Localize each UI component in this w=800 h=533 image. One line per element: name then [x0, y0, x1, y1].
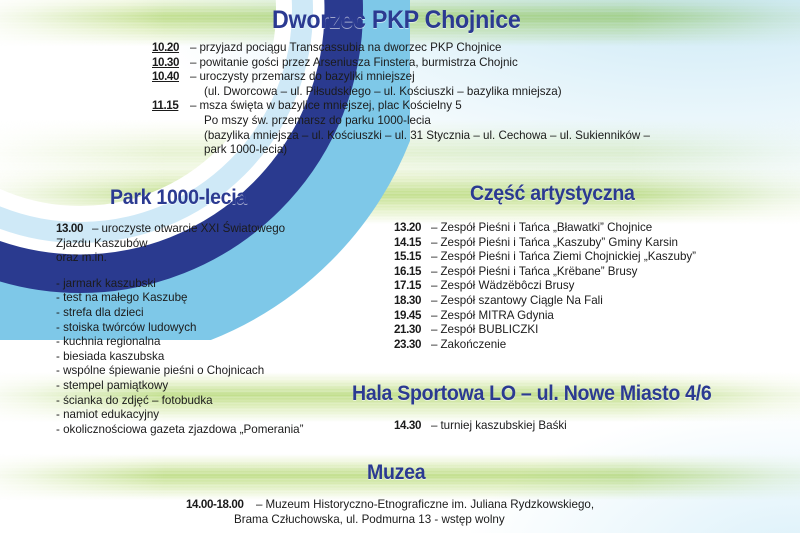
- entry-description: Zakończenie: [440, 338, 506, 353]
- list-item: - stoiska twórców ludowych: [56, 321, 386, 336]
- entry-dash: –: [429, 338, 440, 353]
- entry-time: 13.00: [56, 222, 90, 237]
- entry-description: Zespół MITRA Gdynia: [440, 309, 553, 324]
- schedule-row: 23.30 – Zakończenie: [394, 338, 696, 353]
- entry-description: przyjazd pociągu Transcassubia na dworze…: [199, 41, 501, 56]
- schedule-row: 18.30 – Zespół szantowy Ciągle Na Fali: [394, 294, 696, 309]
- entry-continuation: park 1000-lecia): [204, 143, 650, 158]
- schedule-row: 10.20 – przyjazd pociągu Transcassubia n…: [152, 41, 650, 56]
- entry-time: 10.40: [152, 70, 188, 85]
- entry-time: 21.30: [394, 323, 429, 338]
- entry-dash: –: [429, 309, 440, 324]
- entry-time: 11.15: [152, 99, 188, 114]
- section-heading-hala-sportowa: Hala Sportowa LO – ul. Nowe Miasto 4/6: [352, 382, 711, 406]
- section-heading-park-1000-lecia: Park 1000-lecia: [110, 186, 247, 210]
- schedule-block-park-1000-lecia: 13.00 – uroczyste otwarcie XXI Światoweg…: [56, 222, 386, 437]
- entry-description: Zespół szantowy Ciągle Na Fali: [440, 294, 602, 309]
- schedule-row: 10.40 – uroczysty przemarsz do bazyliki …: [152, 70, 650, 85]
- entry-continuation: (ul. Dworcowa – ul. Piłsudskiego – ul. K…: [204, 85, 650, 100]
- entry-continuation: (bazylika mniejsza – ul. Kościuszki – ul…: [204, 129, 650, 144]
- entry-dash: –: [90, 222, 101, 237]
- list-item: - wspólne śpiewanie pieśni o Chojnicach: [56, 364, 386, 379]
- entry-dash: –: [429, 419, 440, 434]
- entry-time: 23.30: [394, 338, 429, 353]
- entry-time: 19.45: [394, 309, 429, 324]
- entry-dash: –: [188, 56, 199, 71]
- schedule-row: 13.00 – uroczyste otwarcie XXI Światoweg…: [56, 222, 386, 237]
- schedule-row: 14.30 – turniej kaszubskiej Baśki: [394, 419, 567, 434]
- schedule-block-muzea: 14.00-18.00 – Muzeum Historyczno-Etnogra…: [186, 498, 594, 527]
- entry-time: 14.15: [394, 236, 429, 251]
- entry-description: Zespół Pieśni i Tańca Ziemi Chojnickiej …: [440, 250, 696, 265]
- entry-dash: –: [429, 323, 440, 338]
- entry-time: 10.30: [152, 56, 188, 71]
- entry-time: 18.30: [394, 294, 429, 309]
- schedule-block-dworzec-pkp: 10.20 – przyjazd pociągu Transcassubia n…: [152, 41, 650, 158]
- schedule-row: 10.30 – powitanie gości przez Arseniusza…: [152, 56, 650, 71]
- entry-dash: –: [429, 294, 440, 309]
- entry-description: Zespół Wädzëbôczi Brusy: [440, 279, 574, 294]
- entry-time: 14.00-18.00: [186, 498, 254, 513]
- schedule-row: 15.15 – Zespół Pieśni i Tańca Ziemi Choj…: [394, 250, 696, 265]
- section-heading-dworzec-pkp: Dworzec PKP Chojnice: [272, 6, 521, 35]
- entry-continuation: Po mszy św. przemarsz do parku 1000-leci…: [204, 114, 650, 129]
- entry-time: 16.15: [394, 265, 429, 280]
- poster-content: Dworzec PKP Chojnice 10.20 – przyjazd po…: [0, 0, 800, 533]
- entry-dash: –: [429, 265, 440, 280]
- entry-time: 10.20: [152, 41, 188, 56]
- entry-dash: –: [188, 70, 199, 85]
- schedule-row: 19.45 – Zespół MITRA Gdynia: [394, 309, 696, 324]
- list-item: - kuchnia regionalna: [56, 335, 386, 350]
- event-schedule-poster: Dworzec PKP Chojnice 10.20 – przyjazd po…: [0, 0, 800, 533]
- list-item: - stempel pamiątkowy: [56, 379, 386, 394]
- list-item: - okolicznościowa gazeta zjazdowa „Pomer…: [56, 423, 386, 438]
- schedule-row: 14.00-18.00 – Muzeum Historyczno-Etnogra…: [186, 498, 594, 513]
- schedule-block-hala-sportowa: 14.30 – turniej kaszubskiej Baśki: [394, 419, 567, 434]
- entry-continuation: Zjazdu Kaszubów: [56, 237, 386, 252]
- entry-time: 15.15: [394, 250, 429, 265]
- entry-time: 13.20: [394, 221, 429, 236]
- section-heading-muzea: Muzea: [367, 461, 425, 485]
- entry-description: Zespół Pieśni i Tańca „Bławatki” Chojnic…: [440, 221, 652, 236]
- entry-dash: –: [188, 99, 199, 114]
- schedule-row: 21.30 – Zespół BUBLICZKI: [394, 323, 696, 338]
- entry-description: uroczysty przemarsz do bazyliki mniejsze…: [199, 70, 414, 85]
- section-heading-czesc-artystyczna: Część artystyczna: [470, 182, 635, 206]
- entry-description: Zespół BUBLICZKI: [440, 323, 538, 338]
- entry-description: powitanie gości przez Arseniusza Finster…: [199, 56, 517, 71]
- entry-time: 17.15: [394, 279, 429, 294]
- entry-description: msza święta w bazylice mniejszej, plac K…: [199, 99, 461, 114]
- entry-continuation: Brama Człuchowska, ul. Podmurna 13 - wst…: [234, 513, 594, 528]
- entry-description: Zespół Pieśni i Tańca „Kaszuby” Gminy Ka…: [440, 236, 678, 251]
- park-activities-list: - jarmark kaszubski - test na małego Kas…: [56, 277, 386, 438]
- entry-dash: –: [429, 279, 440, 294]
- schedule-row: 13.20 – Zespół Pieśni i Tańca „Bławatki”…: [394, 221, 696, 236]
- list-item: - jarmark kaszubski: [56, 277, 386, 292]
- list-item: - test na małego Kaszubę: [56, 291, 386, 306]
- entry-description: Zespół Pieśni i Tańca „Krëbane” Brusy: [440, 265, 637, 280]
- schedule-row: 17.15 – Zespół Wädzëbôczi Brusy: [394, 279, 696, 294]
- list-item: - strefa dla dzieci: [56, 306, 386, 321]
- schedule-row: 14.15 – Zespół Pieśni i Tańca „Kaszuby” …: [394, 236, 696, 251]
- entry-description: uroczyste otwarcie XXI Światowego: [101, 222, 285, 237]
- entry-dash: –: [429, 250, 440, 265]
- list-item: - ścianka do zdjęć – fotobudka: [56, 394, 386, 409]
- list-item: - biesiada kaszubska: [56, 350, 386, 365]
- entry-continuation: oraz m.in.: [56, 251, 386, 266]
- list-item: - namiot edukacyjny: [56, 408, 386, 423]
- schedule-block-czesc-artystyczna: 13.20 – Zespół Pieśni i Tańca „Bławatki”…: [394, 221, 696, 352]
- entry-dash: –: [429, 221, 440, 236]
- entry-description: Muzeum Historyczno-Etnograficzne im. Jul…: [265, 498, 594, 513]
- entry-dash: –: [254, 498, 265, 513]
- schedule-row: 11.15 – msza święta w bazylice mniejszej…: [152, 99, 650, 114]
- entry-time: 14.30: [394, 419, 429, 434]
- entry-dash: –: [429, 236, 440, 251]
- entry-dash: –: [188, 41, 199, 56]
- schedule-row: 16.15 – Zespół Pieśni i Tańca „Krëbane” …: [394, 265, 696, 280]
- entry-description: turniej kaszubskiej Baśki: [440, 419, 566, 434]
